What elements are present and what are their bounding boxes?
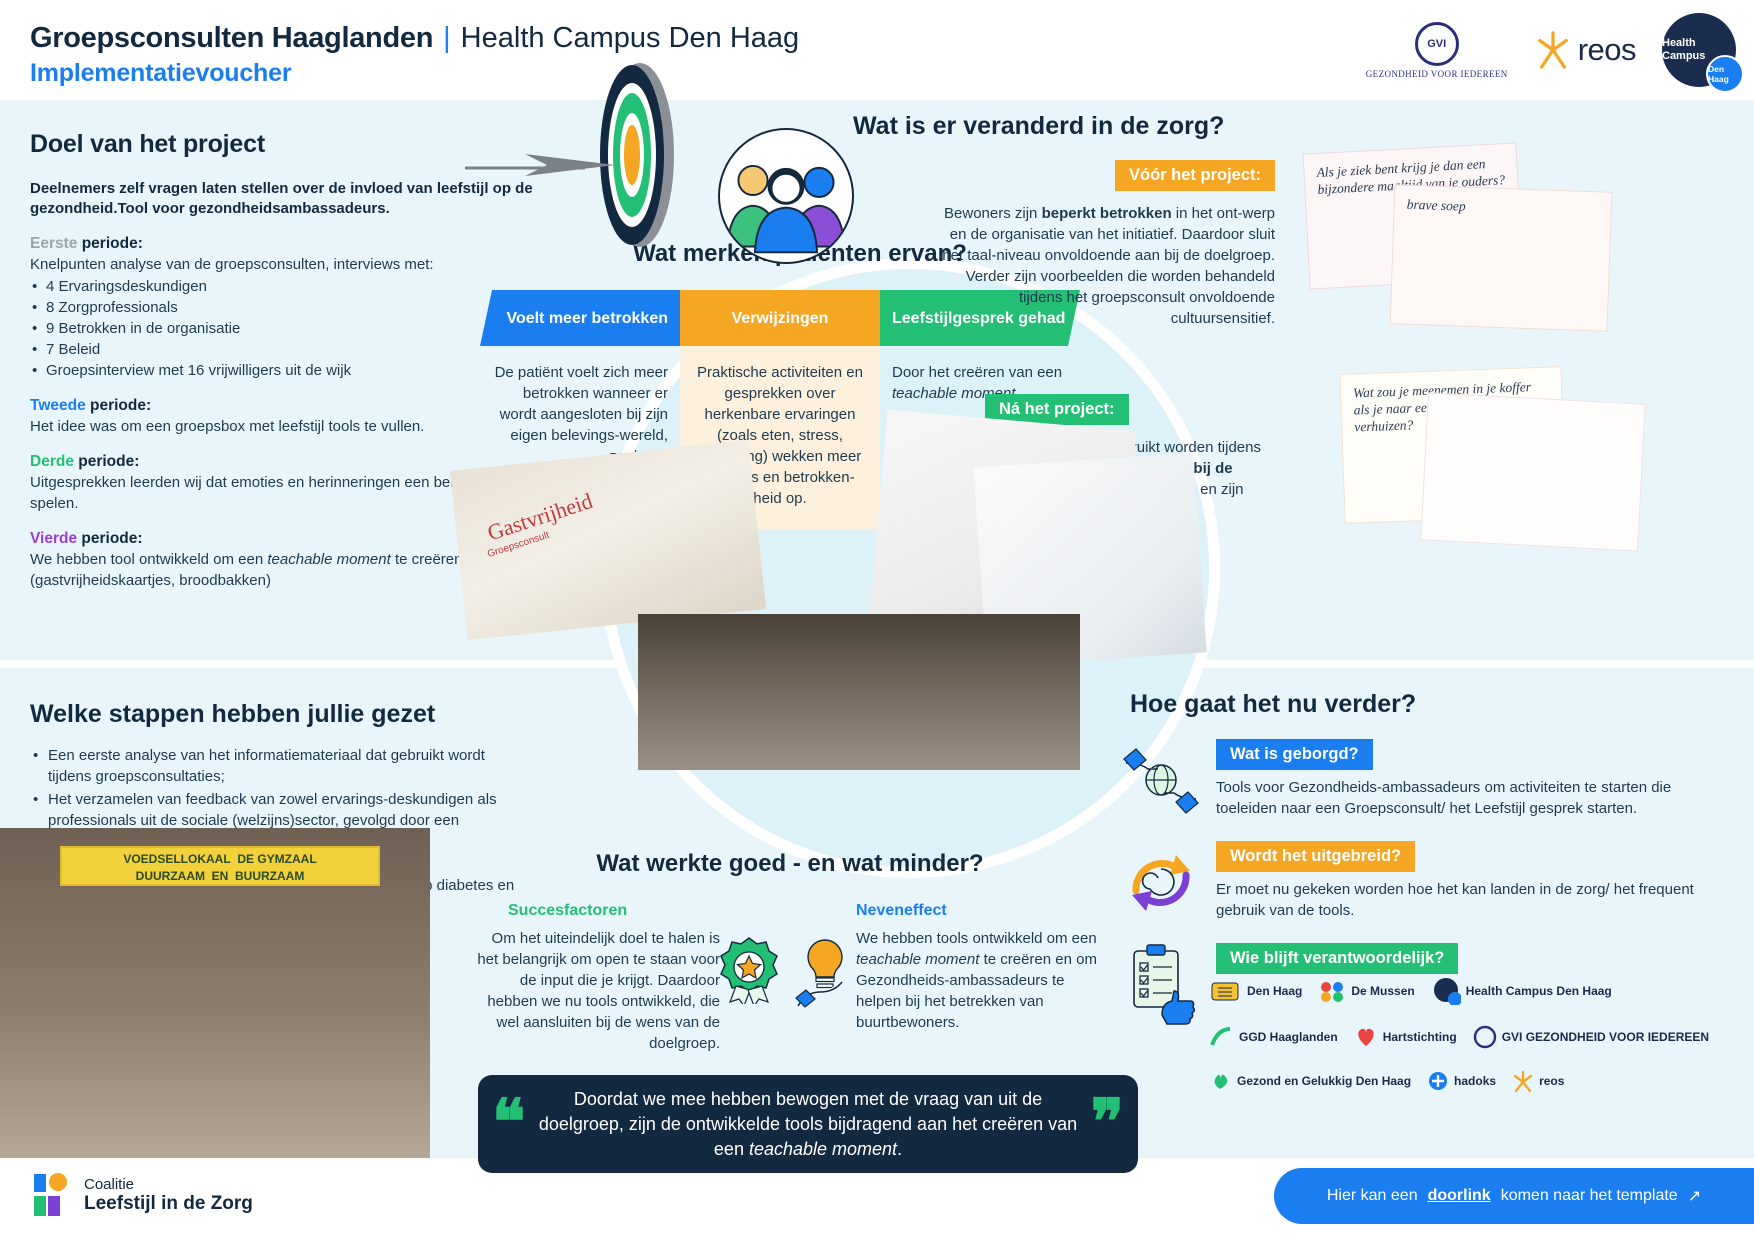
- partner-label: reos: [1539, 1074, 1564, 1088]
- quote-text-italic: teachable moment: [749, 1139, 897, 1159]
- period-3-keyword: Derde: [30, 453, 74, 470]
- checklist-thumb-icon: [1120, 943, 1202, 1025]
- quote-text-post: .: [897, 1139, 902, 1159]
- gvi-caption: GEZONDHEID VOOR IEDEREEN: [1366, 69, 1508, 79]
- before-pill: Vóór het project:: [1115, 160, 1275, 191]
- partner-logo-gezondgelukkig: Gezond en Gelukkig Den Haag: [1208, 1069, 1411, 1093]
- before-bold-1: beperkt betrokken: [1042, 205, 1172, 222]
- period-4-keyword: Vierde: [30, 530, 77, 547]
- title-separator: |: [443, 22, 451, 54]
- goal-lead: Deelnemers zelf vragen laten stellen ove…: [30, 179, 560, 219]
- worked-columns: Succesfactoren Om het uiteindelijk doel …: [470, 902, 1110, 1054]
- people-group-icon: [718, 128, 854, 264]
- template-doorlink-button[interactable]: Hier kan een doorlink komen naar het tem…: [1274, 1168, 1754, 1224]
- sideeffect-heading: Neveneffect: [794, 902, 1104, 920]
- page-title: Groepsconsulten Haaglanden: [30, 22, 433, 54]
- cta-text-pre: Hier kan een: [1327, 1187, 1418, 1205]
- next-item-1-body: Tools voor Gezondheids-ambassadeurs om a…: [1216, 777, 1730, 819]
- period-2-label: periode:: [86, 397, 151, 414]
- next-item-2-pill: Wordt het uitgebreid?: [1216, 841, 1415, 872]
- health-campus-logo: Health Campus Den Haag: [1662, 13, 1736, 87]
- next-item-3-pill: Wie blijft verantwoordelijk?: [1216, 943, 1458, 974]
- quote-text: Doordat we mee hebben bewogen met de vra…: [529, 1087, 1086, 1162]
- partner-label: Health Campus Den Haag: [1466, 984, 1612, 998]
- changed-before-block: Vóór het project: Bewoners zijn beperkt …: [925, 160, 1275, 329]
- coalitie-line2: Leefstijl in de Zorg: [84, 1193, 253, 1215]
- photo-kitchen-workshop: [638, 614, 1080, 770]
- photo-gastvrijheid-cards: Gastvrijheid Groepsconsult: [450, 440, 766, 640]
- coalitie-mark-icon: [32, 1172, 72, 1218]
- partner-label: GVI GEZONDHEID VOOR IEDEREEN: [1502, 1030, 1709, 1044]
- patients-column-2-header: Verwijzingen: [680, 290, 880, 346]
- partner-logo-strip: Den Haag De Mussen Health Campus Den Haa…: [1208, 972, 1738, 1098]
- coalitie-logo: Coalitie Leefstijl in de Zorg: [32, 1172, 253, 1218]
- next-item-1: Wat is geborgd? Tools voor Gezondheids-a…: [1120, 739, 1730, 821]
- before-text-2: in het ont-werp en de organisatie van he…: [942, 205, 1275, 327]
- changed-section: Wat is er veranderd in de zorg? Vóór het…: [845, 112, 1345, 141]
- worked-title: Wat werkte goed - en wat minder?: [470, 850, 1110, 878]
- next-item-2-body: Er moet nu gekeken worden hoe het kan la…: [1216, 879, 1730, 921]
- partner-logo-gvi: GVI GEZONDHEID VOOR IEDEREEN: [1473, 1025, 1709, 1049]
- partner-logo-hartstichting: Hartstichting: [1354, 1025, 1457, 1049]
- hands-globe-icon: [1120, 739, 1202, 821]
- period-3-label: periode:: [74, 453, 139, 470]
- external-link-icon: ↗: [1688, 1186, 1701, 1206]
- poster-root: Groepsconsulten Haaglanden|Health Campus…: [0, 0, 1754, 1241]
- arrow-icon: [465, 152, 625, 178]
- partner-label: Den Haag: [1247, 984, 1302, 998]
- sideeffect-body-italic: teachable moment: [856, 951, 979, 968]
- photo-group-meeting: VOEDSELLOKAAL DE GYMZAALDUURZAAM EN BUUR…: [0, 828, 430, 1158]
- cta-link[interactable]: doorlink: [1428, 1187, 1491, 1205]
- reos-logo: reos: [1534, 29, 1636, 71]
- period-4-label: periode:: [77, 530, 142, 547]
- next-item-2-text: Wordt het uitgebreid? Er moet nu gekeken…: [1216, 841, 1730, 921]
- period-4-body-pre: We hebben tool ontwikkeld om een: [30, 551, 267, 568]
- next-item-1-text: Wat is geborgd? Tools voor Gezondheids-a…: [1216, 739, 1730, 819]
- reos-wordmark: reos: [1578, 32, 1636, 68]
- worked-success-column: Succesfactoren Om het uiteindelijk doel …: [470, 902, 780, 1054]
- period-2-keyword: Tweede: [30, 397, 86, 414]
- patients-column-3-body-pre: Door het creëren van een: [892, 364, 1062, 381]
- partner-label: Hartstichting: [1383, 1030, 1457, 1044]
- health-campus-sub-label: Den Haag: [1706, 55, 1744, 93]
- title-block: Groepsconsulten Haaglanden|Health Campus…: [30, 20, 799, 88]
- success-heading: Succesfactoren: [470, 902, 780, 920]
- card-text-2: brave soep: [1394, 185, 1611, 230]
- gvi-seal-icon: GVI: [1415, 22, 1459, 66]
- partner-label: GGD Haaglanden: [1239, 1030, 1338, 1044]
- pull-quote: ❝ Doordat we mee hebben bewogen met de v…: [478, 1075, 1138, 1173]
- changed-title: Wat is er veranderd in de zorg?: [853, 112, 1345, 141]
- coalitie-line1: Coalitie: [84, 1176, 253, 1193]
- period-1-keyword: Eerste: [30, 235, 77, 252]
- partner-logo-healthcampus: Health Campus Den Haag: [1431, 977, 1612, 1005]
- cta-text-post: komen naar het template: [1501, 1187, 1678, 1205]
- patients-column-1-header: Voelt meer betrokken: [480, 290, 680, 346]
- partner-label: hadoks: [1454, 1074, 1496, 1088]
- list-item: Een eerste analyse van het informatiemat…: [30, 745, 530, 787]
- next-title: Hoe gaat het nu verder?: [1130, 690, 1730, 719]
- partner-label: Gezond en Gelukkig Den Haag: [1237, 1074, 1411, 1088]
- worked-section: Wat werkte goed - en wat minder? Succesf…: [470, 850, 1110, 1054]
- lightbulb-hand-icon: [794, 936, 856, 1008]
- partner-logo-reos: reos: [1512, 1069, 1564, 1093]
- spiral-arrows-icon: [1120, 841, 1202, 923]
- award-badge-icon: [718, 936, 780, 1004]
- before-body: Bewoners zijn beperkt betrokken in het o…: [925, 203, 1275, 329]
- page-subtitle: Implementatievoucher: [30, 59, 799, 88]
- partner-logo-hadoks: hadoks: [1427, 1070, 1496, 1092]
- steps-title: Welke stappen hebben jullie gezet: [30, 700, 530, 729]
- partner-label: De Mussen: [1351, 984, 1414, 998]
- partner-logo-mussen: De Mussen: [1318, 979, 1414, 1003]
- sideeffect-body-pre: We hebben tools ontwikkeld om een: [856, 930, 1097, 947]
- period-1-label: periode:: [77, 235, 142, 252]
- next-item-3-text: Wie blijft verantwoordelijk?: [1216, 943, 1730, 974]
- coalitie-text: Coalitie Leefstijl in de Zorg: [84, 1176, 253, 1215]
- gvi-logo: GVI GEZONDHEID VOOR IEDEREEN: [1366, 22, 1508, 79]
- worked-sideeffect-column: Neveneffect We hebben tools ontwikkeld o…: [794, 902, 1104, 1054]
- partner-logo-ggd: GGD Haaglanden: [1208, 1025, 1338, 1049]
- quote-close-icon: ❞: [1091, 1102, 1124, 1145]
- photo-card-soep: brave soep: [1390, 184, 1613, 332]
- next-item-2: Wordt het uitgebreid? Er moet nu gekeken…: [1120, 841, 1730, 923]
- poster-header: Groepsconsulten Haaglanden|Health Campus…: [0, 0, 1754, 100]
- title-subtitle: Health Campus Den Haag: [461, 22, 800, 54]
- photo-card-blank: [1420, 392, 1645, 551]
- reos-mark-icon: [1534, 29, 1572, 71]
- period-4-body-italic: teachable moment: [267, 551, 390, 568]
- next-item-1-pill: Wat is geborgd?: [1216, 739, 1373, 770]
- partner-logo-denhaag: Den Haag: [1208, 979, 1302, 1003]
- quote-open-icon: ❝: [492, 1102, 525, 1145]
- header-logos: GVI GEZONDHEID VOOR IEDEREEN reos Health…: [1366, 14, 1736, 86]
- before-text-1: Bewoners zijn: [944, 205, 1042, 222]
